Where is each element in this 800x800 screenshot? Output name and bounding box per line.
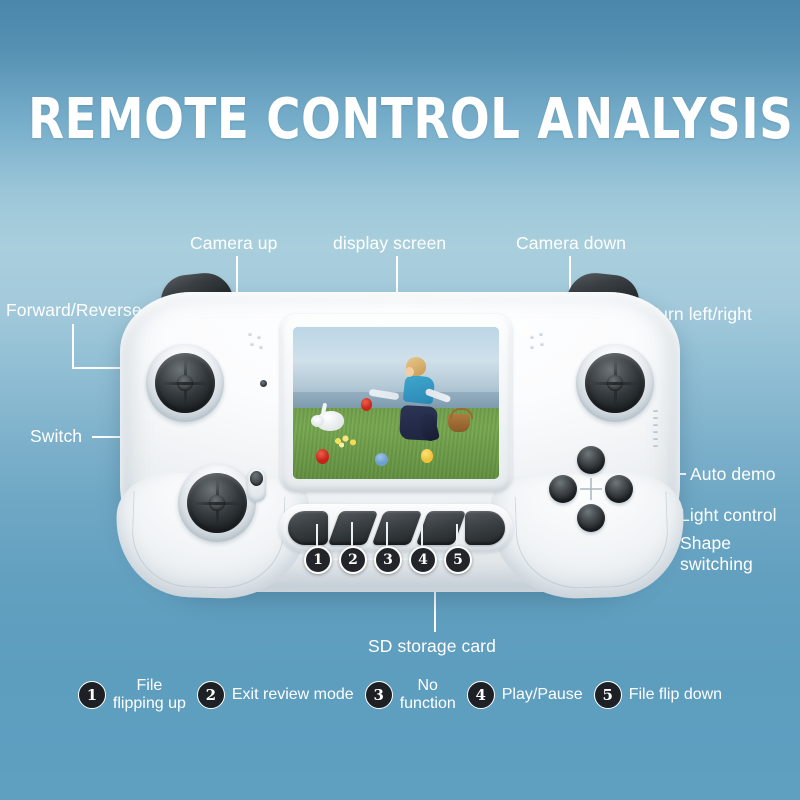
legend-badge-2: 2 <box>197 681 225 709</box>
legend-label-3-line2: function <box>400 695 456 713</box>
badge-tick-5 <box>456 524 458 546</box>
vent-dots-left <box>248 332 270 352</box>
screen-rabbit-head <box>311 415 324 427</box>
display-screen[interactable] <box>293 327 499 479</box>
function-button-3[interactable] <box>372 511 422 545</box>
legend-item-2: 2 Exit review mode <box>197 681 354 709</box>
callout-label-camera-up: Camera up <box>190 233 277 254</box>
badge-tick-2 <box>351 522 353 546</box>
device-badge-2: 2 <box>339 546 367 574</box>
device-badge-1: 1 <box>304 546 332 574</box>
device-badge-3: 3 <box>374 546 402 574</box>
leader-line-forward-reverse-v <box>72 324 74 368</box>
badge-tick-3 <box>386 522 388 546</box>
legend-label-3: No function <box>400 677 456 712</box>
device-badge-4: 4 <box>409 546 437 574</box>
screen-egg-red-ground <box>316 449 329 464</box>
legend-label-5: File flip down <box>629 686 722 704</box>
switch-slider[interactable] <box>247 468 266 502</box>
legend-label-1-line2: flipping up <box>113 695 186 713</box>
infographic-canvas: REMOTE CONTROL ANALYSIS Camera up displa… <box>0 0 800 800</box>
function-button-1[interactable] <box>288 511 328 545</box>
function-button-5[interactable] <box>465 511 505 545</box>
screen-boy-face <box>405 367 414 377</box>
joystick-top-left-cap[interactable] <box>155 353 215 413</box>
auto-demo-button[interactable] <box>577 446 605 474</box>
legend-item-3: 3 No function <box>365 677 456 712</box>
legend-label-3-line1: No <box>400 677 456 695</box>
legend-item-5: 5 File flip down <box>594 681 722 709</box>
legend-label-1-line1: File <box>113 677 186 695</box>
controller-body <box>120 292 680 592</box>
joystick-bottom-left-core <box>209 495 225 511</box>
callout-label-sd-storage-card: SD storage card <box>368 636 496 657</box>
legend-label-1: File flipping up <box>113 677 186 712</box>
joystick-bottom-left[interactable] <box>178 464 256 542</box>
legend-badge-4: 4 <box>467 681 495 709</box>
callout-label-display-screen: display screen <box>333 233 446 254</box>
legend-item-1: 1 File flipping up <box>78 677 186 712</box>
joystick-top-right[interactable] <box>576 344 654 422</box>
screen-egg-yellow <box>421 449 433 463</box>
light-control-button[interactable] <box>605 475 633 503</box>
legend-badge-1: 1 <box>78 681 106 709</box>
device-badge-5: 5 <box>444 546 472 574</box>
badge-tick-4 <box>421 522 423 546</box>
page-title: REMOTE CONTROL ANALYSIS <box>28 92 772 148</box>
legend-row: 1 File flipping up 2 Exit review mode 3 … <box>0 665 800 725</box>
status-led <box>260 380 267 387</box>
joystick-top-right-core <box>607 375 623 391</box>
joystick-top-right-cap[interactable] <box>585 353 645 413</box>
display-bezel <box>280 314 512 492</box>
legend-item-4: 4 Play/Pause <box>467 681 583 709</box>
badge-tick-1 <box>316 524 318 546</box>
speaker-grille <box>653 410 658 454</box>
function-button-2[interactable] <box>328 511 378 545</box>
callout-label-switch: Switch <box>30 426 82 447</box>
joystick-top-left-core <box>177 375 193 391</box>
legend-label-2: Exit review mode <box>232 686 354 704</box>
function-button-4[interactable] <box>416 511 466 545</box>
callout-label-shape-switching-line1: Shape <box>680 533 731 554</box>
extra-left-button[interactable] <box>549 475 577 503</box>
switch-slider-knob[interactable] <box>250 471 263 486</box>
callout-label-auto-demo: Auto demo <box>690 464 776 485</box>
shape-switching-button[interactable] <box>577 504 605 532</box>
screen-flowers <box>332 433 362 449</box>
function-button-tray <box>279 504 513 552</box>
legend-label-4: Play/Pause <box>502 686 583 704</box>
callout-label-shape-switching-line2: switching <box>680 554 753 575</box>
legend-badge-3: 3 <box>365 681 393 709</box>
vent-dots-right <box>530 332 552 352</box>
joystick-bottom-left-cap[interactable] <box>187 473 247 533</box>
dpad-center-cross-icon <box>580 478 602 500</box>
legend-badge-5: 5 <box>594 681 622 709</box>
callout-label-camera-down: Camera down <box>516 233 626 254</box>
screen-basket-handle <box>450 408 473 419</box>
callout-label-light-control: Light control <box>680 505 777 526</box>
screen-sky <box>293 327 499 401</box>
joystick-top-left[interactable] <box>146 344 224 422</box>
